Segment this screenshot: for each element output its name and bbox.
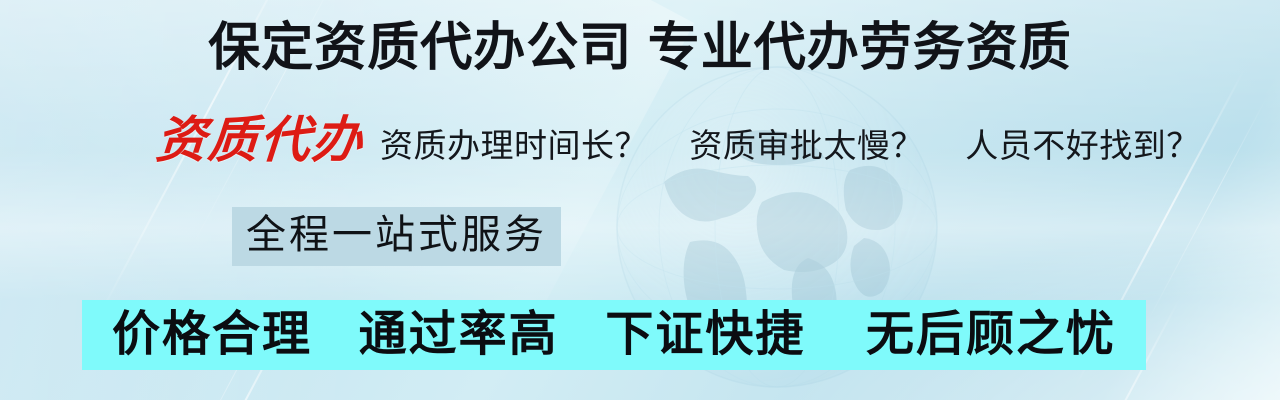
- banner-headline: 保定资质代办公司 专业代办劳务资质: [0, 16, 1280, 80]
- background-haze-mid: [0, 150, 1280, 300]
- slogan-4: 无后顾之忧: [866, 308, 1116, 361]
- promo-banner: 保定资质代办公司 专业代办劳务资质 资质代办 资质办理时间长？ 资质审批太慢？ …: [0, 0, 1280, 400]
- question-3: 人员不好找到？: [965, 127, 1200, 164]
- service-badge: 全程一站式服务: [232, 207, 561, 266]
- slogan-3: 下证快捷: [605, 308, 805, 361]
- slogan-2: 通过率高: [359, 308, 559, 361]
- question-row: 资质代办 资质办理时间长？ 资质审批太慢？ 人员不好找到？: [156, 112, 1200, 168]
- pain-point-questions: 资质办理时间长？ 资质审批太慢？ 人员不好找到？: [380, 124, 1200, 168]
- slogan-text: 价格合理 通过率高 下证快捷 无后顾之忧: [112, 306, 1116, 364]
- question-2: 资质审批太慢？: [689, 127, 924, 164]
- brand-stamp: 资质代办: [154, 112, 366, 168]
- slogan-bar: 价格合理 通过率高 下证快捷 无后顾之忧: [82, 300, 1146, 370]
- slogan-1: 价格合理: [112, 308, 312, 361]
- question-1: 资质办理时间长？: [380, 127, 648, 164]
- service-badge-wrapper: 全程一站式服务: [232, 207, 561, 266]
